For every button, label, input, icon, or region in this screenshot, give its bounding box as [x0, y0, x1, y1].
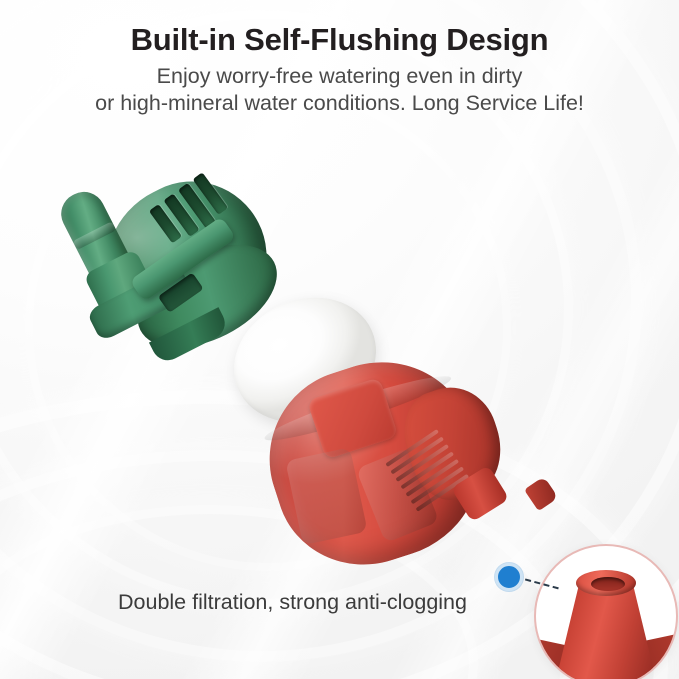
- magnified-nozzle-detail: [534, 544, 678, 679]
- blue-callout-dot: [495, 563, 523, 591]
- headline: Built-in Self-Flushing Design: [0, 22, 679, 58]
- product-feature-image: Built-in Self-Flushing Design Enjoy worr…: [0, 0, 679, 679]
- subtitle-line-2: or high-mineral water conditions. Long S…: [0, 90, 679, 117]
- magnified-nozzle-orifice: [591, 577, 625, 591]
- subtitle: Enjoy worry-free watering even in dirty …: [0, 63, 679, 117]
- caption: Double filtration, strong anti-clogging: [118, 590, 467, 615]
- subtitle-line-1: Enjoy worry-free watering even in dirty: [0, 63, 679, 90]
